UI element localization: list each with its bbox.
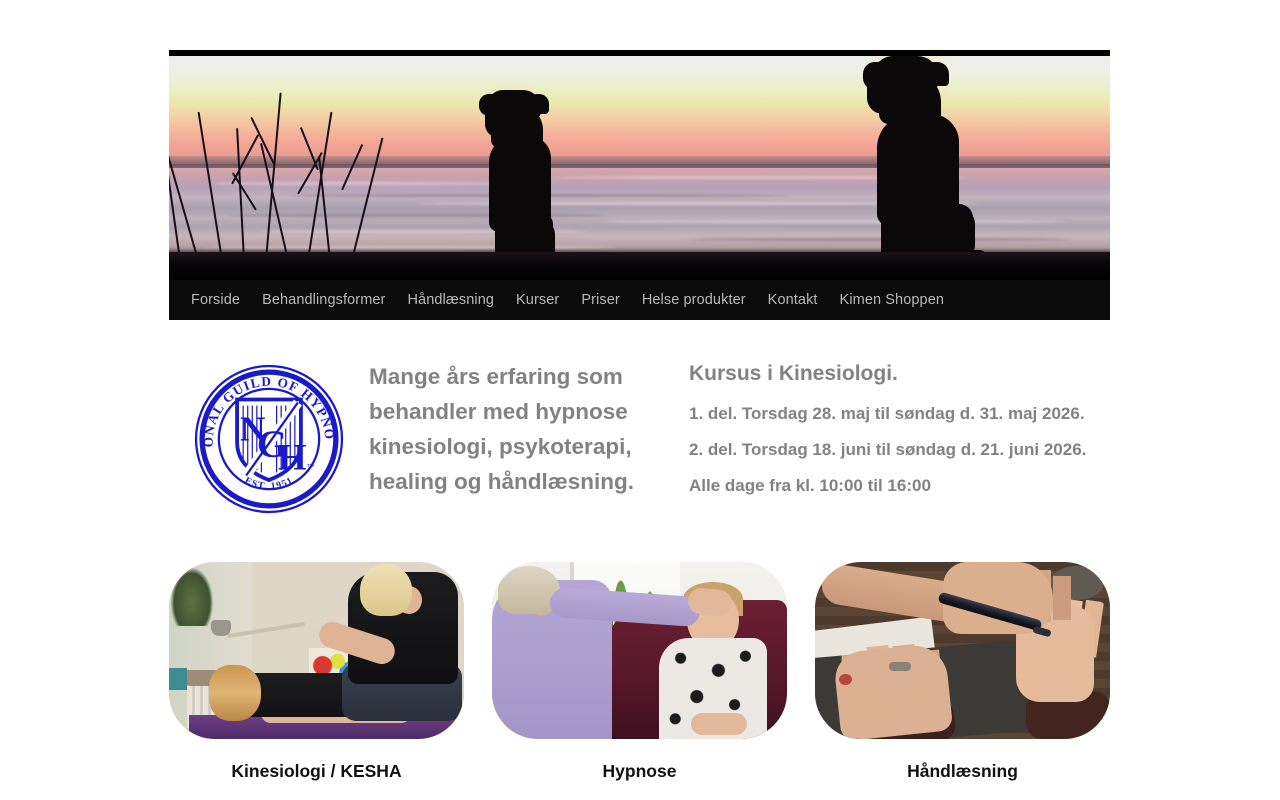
banner-top-bar <box>169 50 1110 56</box>
course-line-2: 2. del. Torsdag 18. juni til søndag d. 2… <box>689 439 1099 461</box>
course-column: Kursus i Kinesiologi. 1. del. Torsdag 28… <box>679 355 1099 497</box>
nav-item-kontakt[interactable]: Kontakt <box>768 292 818 308</box>
logo-column: NATIONAL GUILD OF HYPNOTISTS EST. 1951 T… <box>169 355 369 515</box>
banner-foreground <box>169 252 1110 280</box>
card-handlaesning[interactable]: Håndlæsning <box>815 562 1110 782</box>
svg-text:TM: TM <box>307 463 314 469</box>
dog-silhouette-right <box>859 56 1049 266</box>
header-banner <box>169 50 1110 280</box>
dog-silhouette-left <box>469 88 619 266</box>
main-navigation[interactable]: Forside Behandlingsformer Håndlæsning Ku… <box>169 280 1110 320</box>
intro-text-column: Mange års erfaring som behandler med hyp… <box>369 355 679 499</box>
ngh-seal-logo: NATIONAL GUILD OF HYPNOTISTS EST. 1951 T… <box>193 363 345 515</box>
course-line-1: 1. del. Torsdag 28. maj til søndag d. 31… <box>689 403 1099 425</box>
card-kinesiologi-image[interactable] <box>169 562 464 739</box>
course-title: Kursus i Kinesiologi. <box>689 359 1099 389</box>
intro-section: NATIONAL GUILD OF HYPNOTISTS EST. 1951 T… <box>169 355 1110 515</box>
intro-headline: Mange års erfaring som behandler med hyp… <box>369 359 679 499</box>
service-cards: Kinesiologi / KESHA Hypnose <box>169 562 1110 782</box>
page-root: Forside Behandlingsformer Håndlæsning Ku… <box>0 0 1280 800</box>
svg-text:H: H <box>278 436 306 477</box>
nav-item-handlaesning[interactable]: Håndlæsning <box>407 292 494 308</box>
nav-item-helse-produkter[interactable]: Helse produkter <box>642 292 746 308</box>
card-handlaesning-image[interactable] <box>815 562 1110 739</box>
card-kinesiologi[interactable]: Kinesiologi / KESHA <box>169 562 464 782</box>
banner-photo <box>169 56 1110 280</box>
nav-item-kurser[interactable]: Kurser <box>516 292 559 308</box>
nav-item-kimen-shoppen[interactable]: Kimen Shoppen <box>840 292 945 308</box>
card-kinesiologi-caption: Kinesiologi / KESHA <box>169 761 464 782</box>
card-hypnose-image[interactable] <box>492 562 787 739</box>
nav-item-behandlingsformer[interactable]: Behandlingsformer <box>262 292 385 308</box>
card-hypnose[interactable]: Hypnose <box>492 562 787 782</box>
card-hypnose-caption: Hypnose <box>492 761 787 782</box>
nav-item-priser[interactable]: Priser <box>581 292 619 308</box>
site-container: Forside Behandlingsformer Håndlæsning Ku… <box>169 50 1110 320</box>
course-line-3: Alle dage fra kl. 10:00 til 16:00 <box>689 475 1099 497</box>
nav-item-forside[interactable]: Forside <box>191 292 240 308</box>
card-handlaesning-caption: Håndlæsning <box>815 761 1110 782</box>
